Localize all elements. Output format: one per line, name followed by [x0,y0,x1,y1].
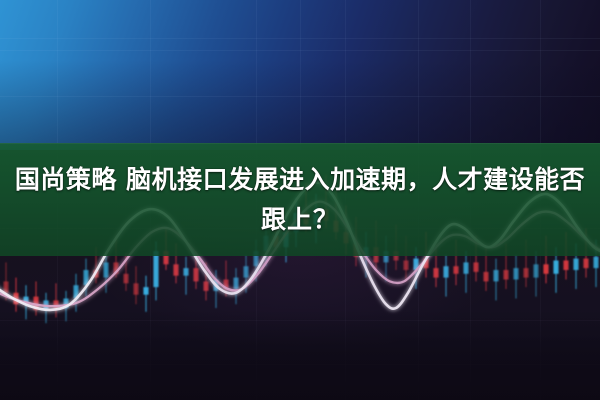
candle-body [503,270,508,280]
candle-body [463,262,468,273]
candle-body [233,278,238,289]
candle-body [3,281,8,292]
banner-image: 国尚策略 脑机接口发展进入加速期，人才建设能否 跟上？ [0,0,600,400]
candle-body [173,264,178,275]
candle-body [573,259,578,270]
grid-line-vertical [150,0,151,150]
candle-body [493,270,498,281]
candle-body [593,257,598,268]
grid-line-vertical [470,0,471,150]
candle-body [243,266,248,277]
candle-body [533,264,538,277]
grid-line-vertical [256,0,257,150]
grid-line-vertical [418,0,419,150]
candle-body [483,272,488,282]
candle-body [193,268,198,281]
candle-body [513,268,518,279]
candle-body [473,262,478,272]
candle-body [183,268,188,276]
grid-line-vertical [540,0,541,150]
candle-body [103,262,108,277]
candle-body [153,251,158,287]
candle-body [543,264,548,274]
headline-band: 国尚策略 脑机接口发展进入加速期，人才建设能否 跟上？ [0,143,600,256]
candle-body [133,283,138,294]
headline-line-2: 跟上？ [261,200,339,240]
grid-line-vertical [345,0,346,150]
headline-line-1: 国尚策略 脑机接口发展进入加速期，人才建设能否 [15,160,585,200]
candle-body [433,268,438,278]
candle-body [443,266,448,277]
candle-body [583,259,588,269]
candle-body [553,261,558,274]
candle-body [403,261,408,271]
candle-body [203,281,208,291]
candle-body [143,287,148,295]
candle-body [563,261,568,271]
candle-body [123,274,128,284]
candle-body [523,268,528,278]
candle-body [453,266,458,274]
background-grid-lines [0,0,600,150]
grid-line-vertical [300,0,301,150]
grid-line-vertical [57,0,58,150]
